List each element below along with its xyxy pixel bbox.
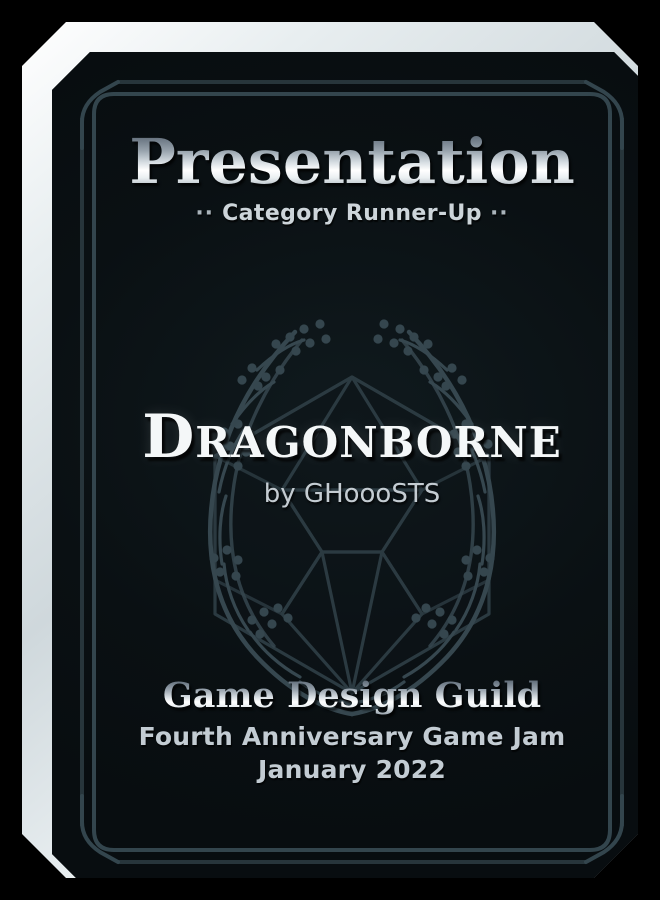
- flourish-left-icon: ··: [195, 201, 214, 226]
- award-card-stage: Presentation ·· Category Runner-Up ·· Dr…: [0, 0, 660, 900]
- event-name: Fourth Anniversary Game Jam: [52, 722, 652, 751]
- game-title: Dragonborne: [52, 407, 652, 467]
- award-category-label: Category Runner-Up: [222, 201, 482, 226]
- card-inner-panel: Presentation ·· Category Runner-Up ·· Dr…: [52, 52, 652, 892]
- flourish-right-icon: ··: [490, 201, 509, 226]
- game-block: Dragonborne by GHoooSTS: [52, 407, 652, 509]
- event-date: January 2022: [52, 755, 652, 784]
- award-title: Presentation: [52, 130, 652, 193]
- card-outer-border: Presentation ·· Category Runner-Up ·· Dr…: [22, 22, 638, 878]
- award-category-line: ·· Category Runner-Up ··: [52, 201, 652, 226]
- game-author-credit: by GHoooSTS: [52, 479, 652, 509]
- award-header: Presentation ·· Category Runner-Up ··: [52, 130, 652, 226]
- card-content: Presentation ·· Category Runner-Up ·· Dr…: [52, 52, 652, 892]
- event-footer: Game Design Guild Fourth Anniversary Gam…: [52, 677, 652, 784]
- organization-name: Game Design Guild: [52, 677, 652, 716]
